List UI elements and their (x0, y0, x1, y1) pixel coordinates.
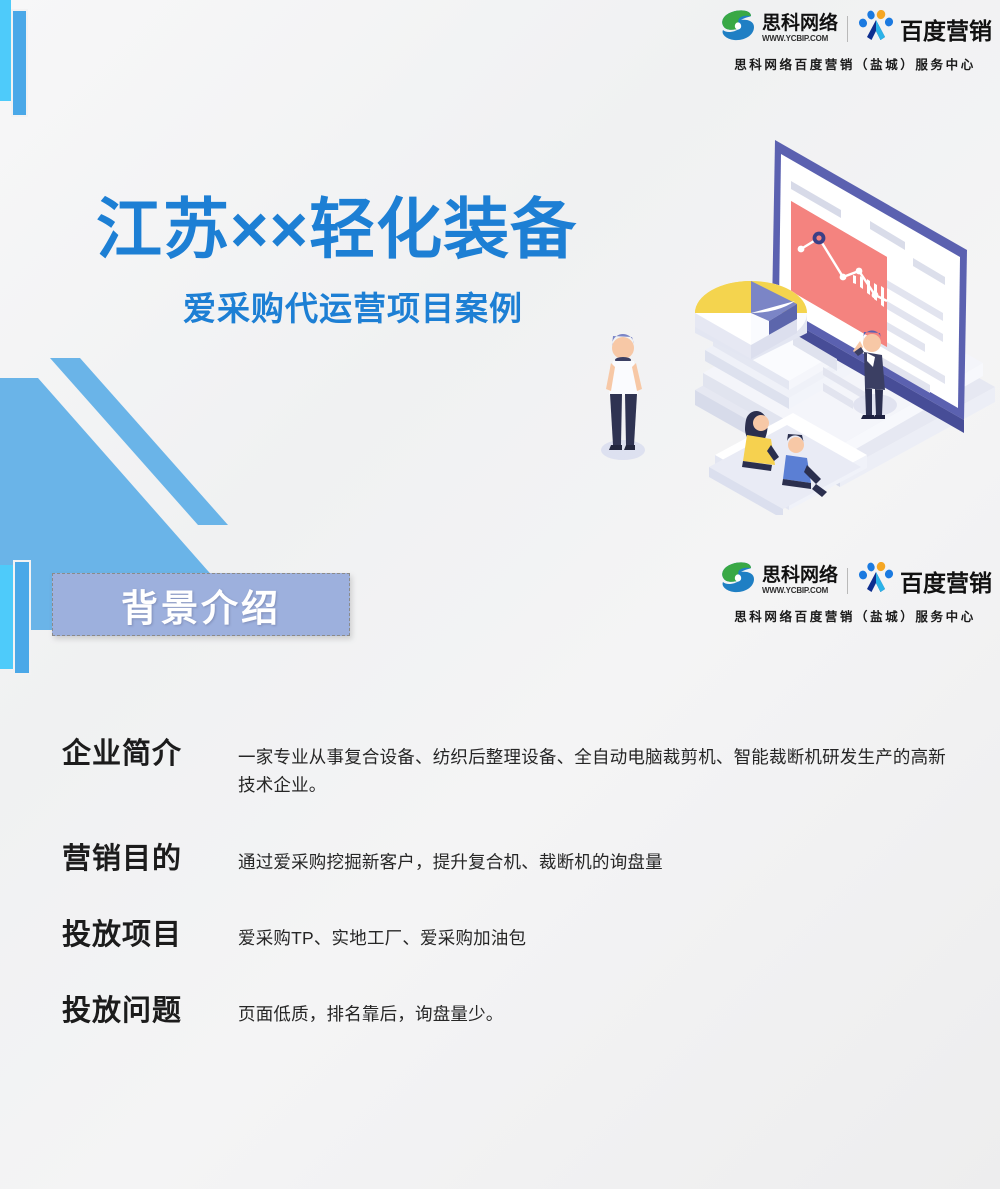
sike-company-url: WWW.YCBIP.COM (762, 35, 838, 43)
info-list: 企业简介 一家专业从事复合设备、纺织后整理设备、全自动电脑裁剪机、智能裁断机研发… (62, 738, 962, 1072)
info-row: 营销目的 通过爱采购挖掘新客户，提升复合机、裁断机的询盘量 (62, 843, 962, 876)
sike-company-name: 思科网络 (762, 566, 838, 585)
baidu-paw-icon (857, 562, 895, 599)
logo-divider (847, 568, 848, 594)
info-row: 投放问题 页面低质，排名靠后，询盘量少。 (62, 995, 962, 1028)
info-label: 营销目的 (62, 843, 238, 876)
sike-company-name: 思科网络 (762, 14, 838, 33)
sike-logo-text: 思科网络 WWW.YCBIP.COM (762, 566, 838, 595)
decor-bar-blue-mid (15, 562, 29, 673)
info-value: 一家专业从事复合设备、纺织后整理设备、全自动电脑裁剪机、智能裁断机研发生产的高新… (238, 738, 962, 800)
section-banner: 背景介绍 (52, 573, 350, 636)
header-logo-lockup: 思科网络 WWW.YCBIP.COM 百度营销 (718, 8, 992, 73)
page-subtitle: 爱采购代运营项目案例 (183, 292, 523, 325)
isometric-illustration (575, 105, 1000, 515)
decor-bar-cyan-mid (0, 565, 13, 669)
info-label: 投放项目 (62, 919, 238, 952)
logo-row: 思科网络 WWW.YCBIP.COM 百度营销 (718, 8, 992, 49)
section-logo-lockup: 思科网络 WWW.YCBIP.COM 百度营销 (718, 560, 992, 625)
info-value: 页面低质，排名靠后，询盘量少。 (238, 995, 962, 1028)
section-banner-label: 背景介绍 (121, 578, 281, 632)
standing-figure (601, 334, 645, 460)
decor-bar-blue-top (13, 11, 26, 115)
sike-logo-text: 思科网络 WWW.YCBIP.COM (762, 14, 838, 43)
service-center-label: 思科网络百度营销（盐城）服务中心 (734, 606, 976, 625)
sike-logo: 思科网络 WWW.YCBIP.COM (718, 560, 838, 601)
info-value: 爱采购TP、实地工厂、爱采购加油包 (238, 919, 962, 952)
baidu-logo: 百度营销 (857, 10, 992, 47)
info-label: 企业简介 (62, 738, 238, 771)
service-center-label: 思科网络百度营销（盐城）服务中心 (734, 54, 976, 73)
logo-row: 思科网络 WWW.YCBIP.COM 百度营销 (718, 560, 992, 601)
baidu-logo: 百度营销 (857, 562, 992, 599)
sike-s-swirl-icon (718, 560, 758, 601)
info-row: 投放项目 爱采购TP、实地工厂、爱采购加油包 (62, 919, 962, 952)
sike-logo: 思科网络 WWW.YCBIP.COM (718, 8, 838, 49)
sike-company-url: WWW.YCBIP.COM (762, 587, 838, 595)
logo-divider (847, 16, 848, 42)
baidu-paw-icon (857, 10, 895, 47)
info-row: 企业简介 一家专业从事复合设备、纺织后整理设备、全自动电脑裁剪机、智能裁断机研发… (62, 738, 962, 800)
info-label: 投放问题 (62, 995, 238, 1028)
page-title: 江苏××轻化装备 (96, 196, 577, 262)
baidu-brand-name: 百度营销 (900, 564, 992, 598)
decor-bar-cyan-top (0, 0, 11, 101)
poster-page: 思科网络 WWW.YCBIP.COM 百度营销 (0, 0, 1000, 1189)
baidu-brand-name: 百度营销 (900, 12, 992, 46)
sike-s-swirl-icon (718, 8, 758, 49)
info-value: 通过爱采购挖掘新客户，提升复合机、裁断机的询盘量 (238, 843, 962, 876)
